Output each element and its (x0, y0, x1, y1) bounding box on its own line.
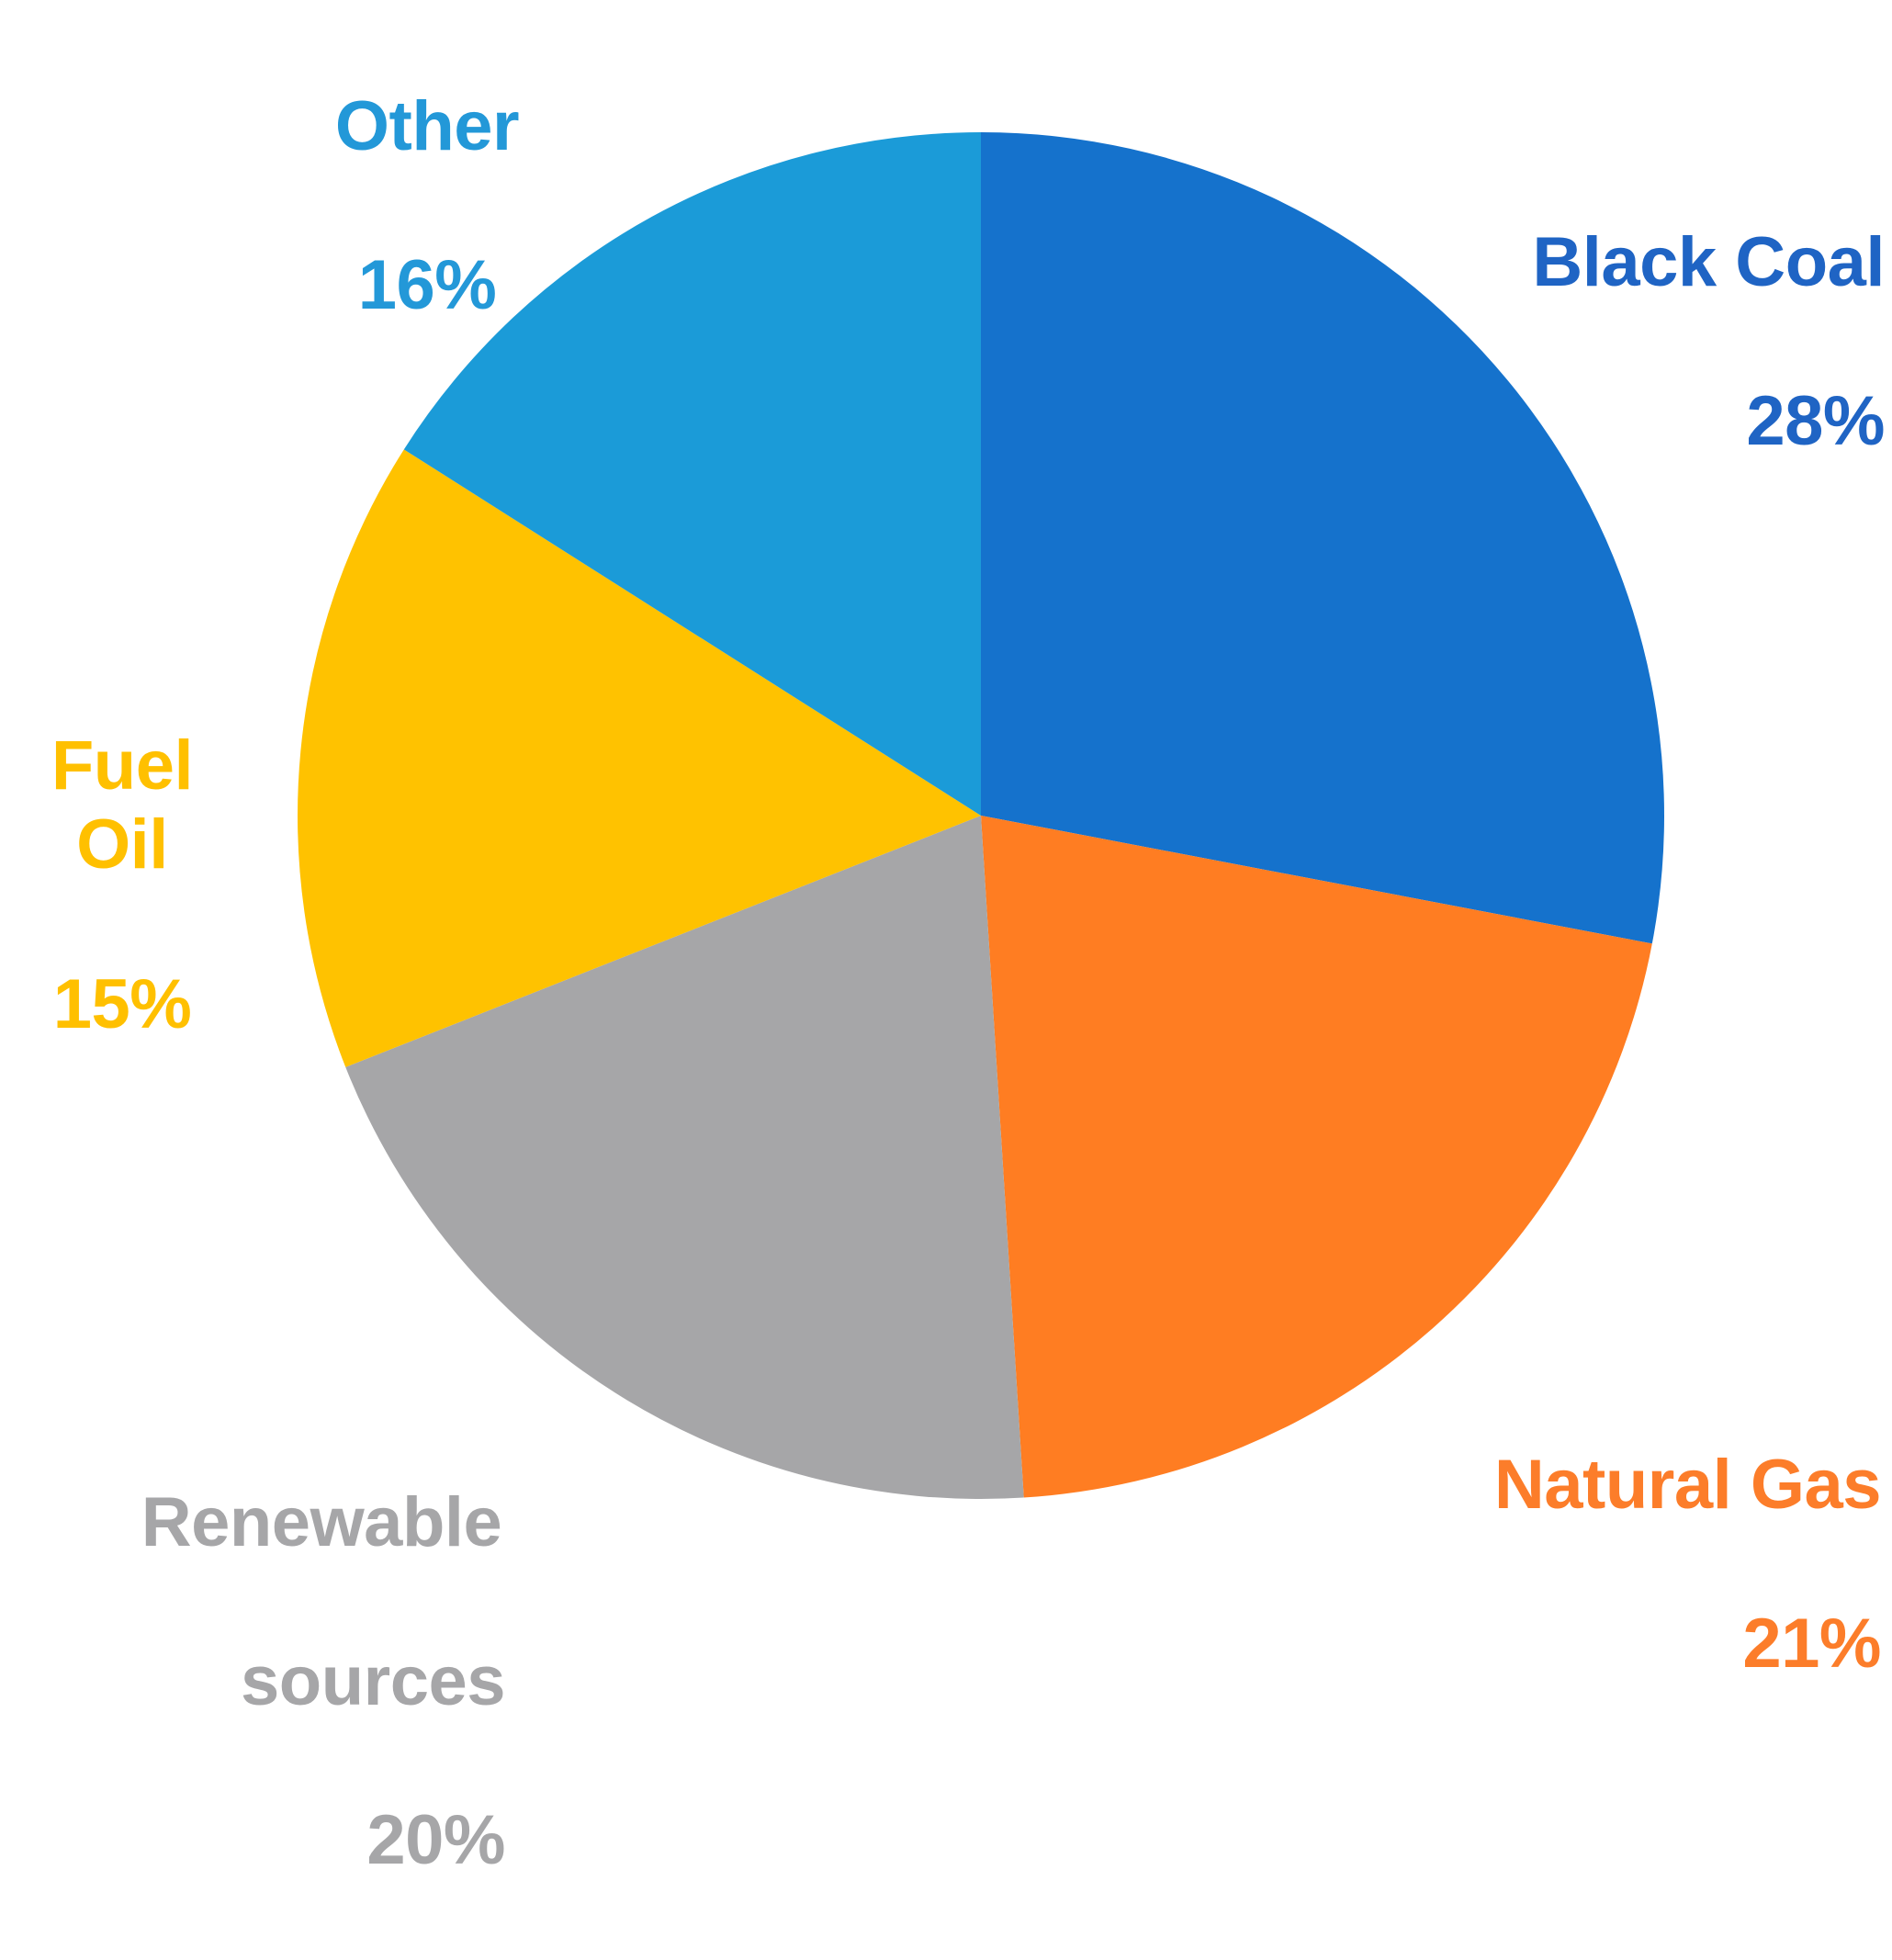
pie-label-black-coal-value: 28% (1532, 382, 1885, 462)
pie-label-renewable-sources-value: 20% (138, 1801, 505, 1881)
pie-chart-figure: Black Coal 28% Natural Gas 21% Renewable… (0, 0, 1892, 1661)
pie-label-renewable-sources-name-line2: sources (138, 1642, 505, 1722)
pie-label-natural-gas-name: Natural Gas (1494, 1446, 1881, 1526)
pie-label-other: Other 16% (303, 7, 551, 405)
pie-label-renewable-sources: Renewable sources 20% (138, 1403, 505, 1960)
pie-label-other-value: 16% (303, 246, 551, 326)
pie-label-natural-gas: Natural Gas 21% (1494, 1366, 1881, 1763)
pie-label-renewable-sources-name-line1: Renewable (138, 1483, 505, 1563)
pie-label-fuel-oil-value: 15% (7, 965, 237, 1045)
pie-label-fuel-oil: Fuel Oil 15% (7, 647, 237, 1124)
pie-label-fuel-oil-name: Fuel Oil (7, 727, 237, 885)
pie-label-other-name: Other (303, 87, 551, 167)
pie-label-black-coal: Black Coal 28% (1532, 143, 1885, 541)
pie-label-natural-gas-value: 21% (1494, 1605, 1881, 1684)
pie-label-black-coal-name: Black Coal (1532, 223, 1885, 303)
